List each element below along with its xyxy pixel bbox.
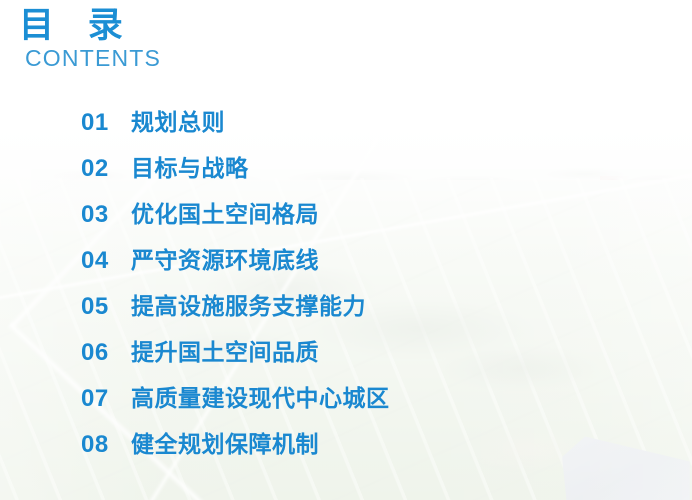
page-subtitle: CONTENTS	[25, 45, 161, 71]
list-item[interactable]: 01 规划总则	[81, 103, 681, 149]
list-item-number: 03	[81, 201, 131, 229]
list-item-number: 05	[81, 293, 131, 321]
list-item-number: 02	[81, 155, 131, 183]
list-item-label: 优化国土空间格局	[131, 195, 319, 229]
list-item-label: 健全规划保障机制	[131, 425, 319, 459]
list-item-number: 07	[81, 385, 131, 413]
slide-content: 目 录 CONTENTS 01 规划总则 02 目标与战略 03 优化国土空间格…	[0, 0, 692, 500]
list-item[interactable]: 08 健全规划保障机制	[81, 425, 681, 471]
list-item[interactable]: 02 目标与战略	[81, 149, 681, 195]
list-item[interactable]: 03 优化国土空间格局	[81, 195, 681, 241]
list-item-number: 01	[81, 109, 131, 137]
contents-list: 01 规划总则 02 目标与战略 03 优化国土空间格局 04 严守资源环境底线…	[81, 103, 681, 471]
list-item-number: 08	[81, 431, 131, 459]
list-item[interactable]: 06 提升国土空间品质	[81, 333, 681, 379]
list-item-number: 06	[81, 339, 131, 367]
list-item-label: 规划总则	[131, 103, 225, 137]
slide-title-block: 目 录 CONTENTS	[19, 6, 161, 71]
list-item[interactable]: 07 高质量建设现代中心城区	[81, 379, 681, 425]
list-item-label: 目标与战略	[131, 149, 249, 183]
list-item-label: 提高设施服务支撑能力	[131, 287, 366, 321]
list-item[interactable]: 04 严守资源环境底线	[81, 241, 681, 287]
list-item-label: 提升国土空间品质	[131, 333, 319, 367]
contents-slide: 目 录 CONTENTS 01 规划总则 02 目标与战略 03 优化国土空间格…	[0, 0, 692, 500]
list-item-label: 高质量建设现代中心城区	[131, 379, 390, 413]
list-item-number: 04	[81, 247, 131, 275]
page-title: 目 录	[19, 6, 161, 46]
list-item-label: 严守资源环境底线	[131, 241, 319, 275]
list-item[interactable]: 05 提高设施服务支撑能力	[81, 287, 681, 333]
